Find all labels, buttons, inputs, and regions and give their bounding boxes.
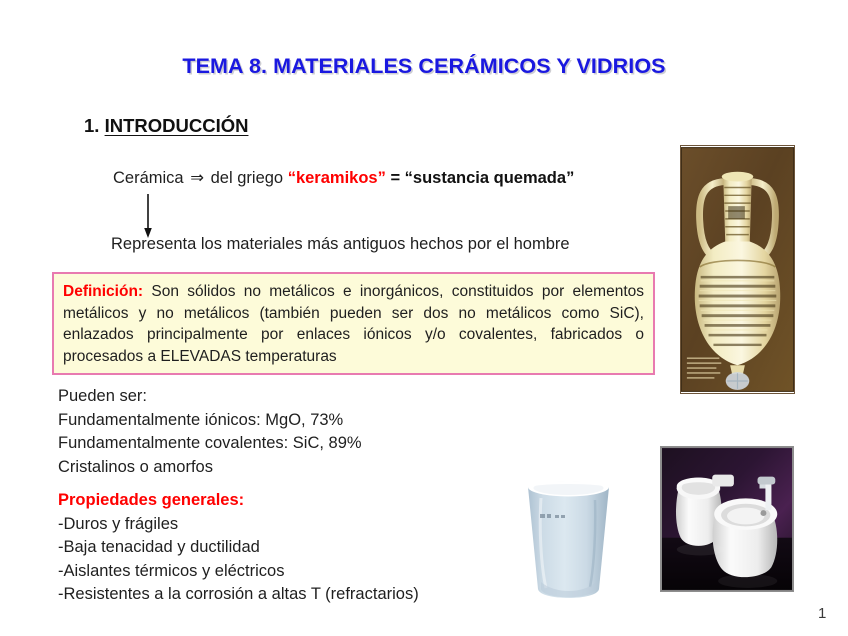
slide-root: TEMA 8. MATERIALES CERÁMICOS Y VIDRIOS 1… (0, 0, 848, 636)
down-arrow-icon (140, 194, 156, 238)
section-number: 1. (84, 115, 99, 136)
list-item: -Baja tenacidad y ductilidad (58, 536, 419, 560)
definition-box: Definición: Son sólidos no metálicos e i… (52, 272, 655, 375)
page-title: TEMA 8. MATERIALES CERÁMICOS Y VIDRIOS (0, 54, 848, 79)
etymology-conclusion: Representa los materiales más antiguos h… (111, 235, 570, 254)
crucible-cup-photo (503, 470, 634, 618)
etymology-greek-word: “keramikos” (288, 169, 386, 187)
types-list: Pueden ser: Fundamentalmente iónicos: Mg… (58, 385, 362, 479)
list-item: -Duros y frágiles (58, 513, 419, 537)
toilet-bidet-photo (660, 446, 794, 592)
amphora-photo (680, 145, 795, 394)
list-item: Fundamentalmente iónicos: MgO, 73% (58, 409, 362, 433)
properties-heading: Propiedades generales: (58, 489, 419, 513)
etymology-translation: “sustancia quemada” (405, 169, 575, 187)
list-item: Fundamentalmente covalentes: SiC, 89% (58, 432, 362, 456)
list-item: -Resistentes a la corrosión a altas T (r… (58, 583, 419, 607)
definition-text: Son sólidos no metálicos e inorgánicos, … (63, 283, 644, 365)
etymology-from: del griego (211, 169, 283, 187)
types-heading: Pueden ser: (58, 385, 362, 409)
section-heading-label: INTRODUCCIÓN (105, 115, 249, 136)
etymology-line: Cerámica ⇒ del griego “keramikos” = “sus… (113, 168, 574, 188)
properties-list: Propiedades generales: -Duros y frágiles… (58, 489, 419, 607)
implies-arrow-icon: ⇒ (188, 169, 206, 187)
definition-label: Definición: (63, 283, 143, 300)
etymology-lead: Cerámica (113, 169, 184, 187)
list-item: Cristalinos o amorfos (58, 456, 362, 480)
etymology-equals: = (390, 169, 400, 187)
section-heading: 1. INTRODUCCIÓN (84, 115, 248, 137)
page-number: 1 (818, 605, 826, 622)
list-item: -Aislantes térmicos y eléctricos (58, 560, 419, 584)
definition-paragraph: Definición: Son sólidos no metálicos e i… (63, 281, 644, 367)
